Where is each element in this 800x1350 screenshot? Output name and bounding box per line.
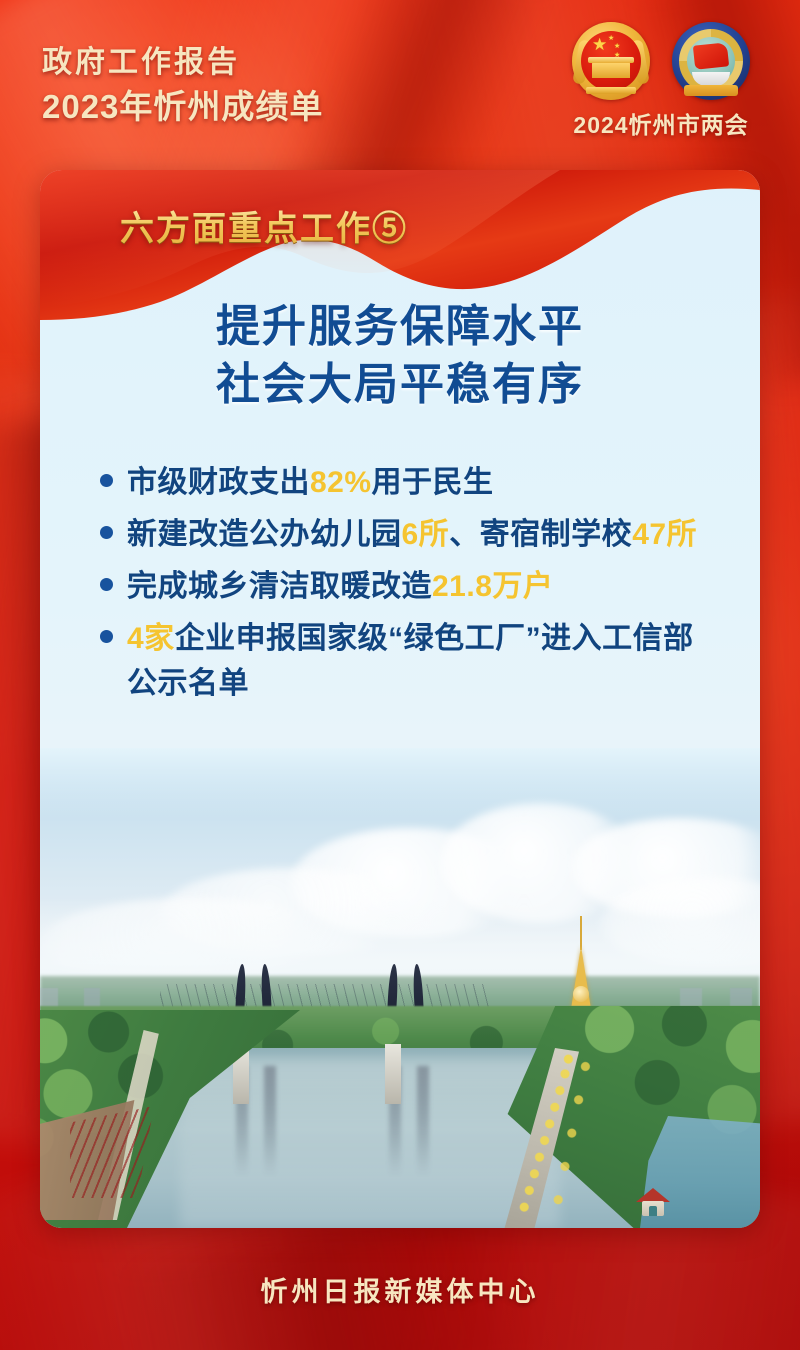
- national-emblem-of-china-icon: ★ ★ ★ ★ ★: [572, 22, 650, 100]
- poster-header: 政府工作报告 2023年忻州成绩单 ★ ★ ★ ★ ★: [0, 0, 800, 165]
- list-item-text-span: 市级财政支出: [127, 466, 310, 499]
- emblem-group: ★ ★ ★ ★ ★ 2024忻州市两会: [546, 22, 776, 140]
- list-item-text-span: 、寄宿制学校: [449, 518, 632, 551]
- bullet-dot-icon: [100, 578, 113, 591]
- main-title-line2: 社会大局平稳有序: [40, 356, 760, 414]
- cppcc-emblem-icon: [672, 22, 750, 100]
- list-item-text: 市级财政支出82%用于民生: [127, 460, 494, 505]
- list-item-text: 新建改造公办幼儿园6所、寄宿制学校47所: [127, 512, 697, 557]
- section-badge: 六方面重点工作⑤: [120, 201, 408, 250]
- header-title-line1: 政府工作报告: [42, 44, 323, 82]
- emblem-caption: 2024忻州市两会: [546, 106, 776, 140]
- photo-red-roof-hut: [636, 1188, 670, 1216]
- photo-tower-spire: [580, 916, 582, 950]
- footer-credit: 忻州日报新媒体中心: [261, 1270, 540, 1309]
- photo-tower-bulb: [573, 986, 589, 1002]
- highlight-value: 6所: [402, 518, 450, 551]
- bullet-dot-icon: [100, 526, 113, 539]
- highlight-value: 4家: [127, 622, 175, 655]
- list-item-text: 4家企业申报国家级“绿色工厂”进入工信部公示名单: [127, 616, 720, 706]
- scenic-photo: [40, 748, 760, 1228]
- bullet-list: 市级财政支出82%用于民生新建改造公办幼儿园6所、寄宿制学校47所完成城乡清洁取…: [100, 460, 720, 713]
- header-title-block: 政府工作报告 2023年忻州成绩单: [42, 44, 323, 129]
- list-item: 4家企业申报国家级“绿色工厂”进入工信部公示名单: [100, 616, 720, 706]
- poster-root: 政府工作报告 2023年忻州成绩单 ★ ★ ★ ★ ★: [0, 0, 800, 1350]
- emblem-row: ★ ★ ★ ★ ★: [546, 22, 776, 100]
- highlight-value: 21.8万户: [432, 570, 553, 603]
- list-item-text: 完成城乡清洁取暖改造21.8万户: [127, 564, 553, 609]
- bullet-dot-icon: [100, 474, 113, 487]
- list-item-text-span: 企业申报国家级“绿色工厂”进入工信部公示名单: [127, 622, 694, 700]
- photo-yellow-flowers: [480, 1048, 650, 1228]
- list-item: 市级财政支出82%用于民生: [100, 460, 720, 505]
- photo-bridge-pier: [385, 1044, 401, 1104]
- list-item-text-span: 完成城乡清洁取暖改造: [127, 570, 432, 603]
- highlight-value: 82%: [310, 466, 372, 499]
- main-title-line1: 提升服务保障水平: [40, 298, 760, 356]
- header-title-line2: 2023年忻州成绩单: [42, 85, 323, 129]
- list-item-text-span: 用于民生: [372, 466, 494, 499]
- content-card: 六方面重点工作⑤ 提升服务保障水平 社会大局平稳有序 市级财政支出82%用于民生…: [40, 170, 760, 1228]
- bullet-dot-icon: [100, 630, 113, 643]
- poster-footer: 忻州日报新媒体中心: [0, 1228, 800, 1350]
- photo-top-fade: [40, 748, 760, 818]
- main-title: 提升服务保障水平 社会大局平稳有序: [40, 298, 760, 414]
- list-item: 新建改造公办幼儿园6所、寄宿制学校47所: [100, 512, 720, 557]
- list-item: 完成城乡清洁取暖改造21.8万户: [100, 564, 720, 609]
- highlight-value: 47所: [632, 518, 697, 551]
- list-item-text-span: 新建改造公办幼儿园: [127, 518, 402, 551]
